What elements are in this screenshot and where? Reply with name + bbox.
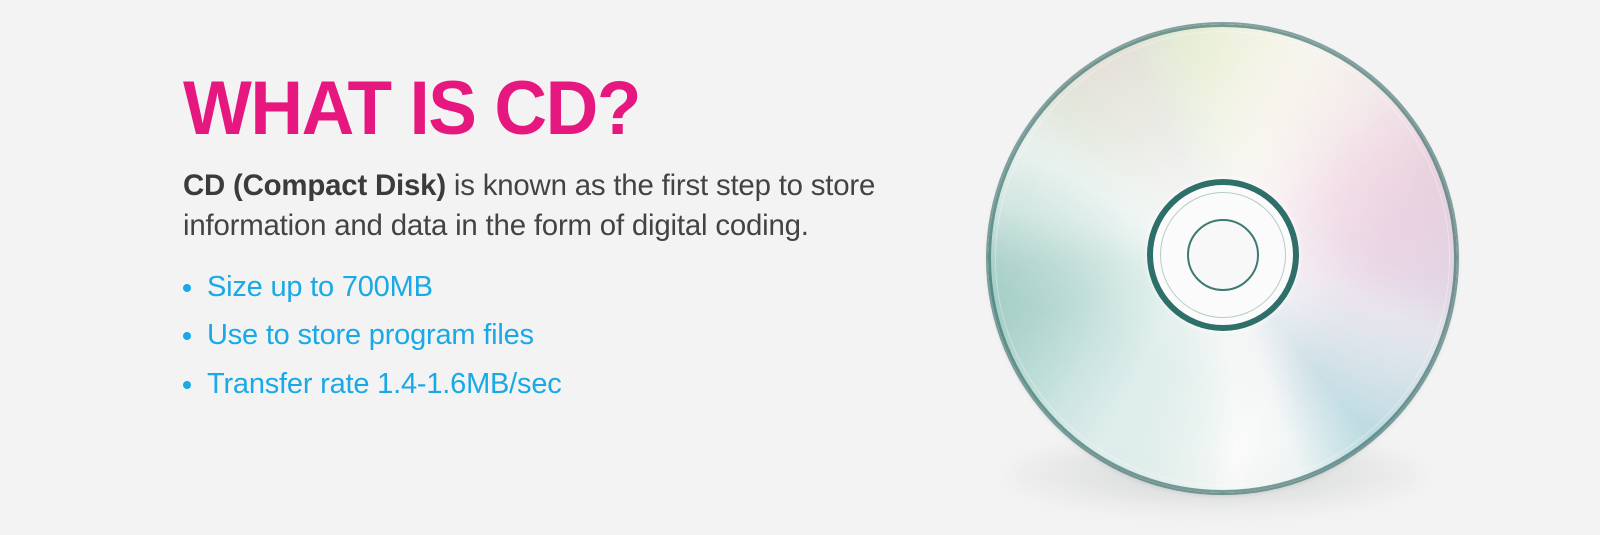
bullet-icon (183, 381, 191, 389)
description-term: CD (Compact Disk) (183, 169, 446, 202)
description-paragraph: CD (Compact Disk) is known as the first … (183, 144, 967, 246)
feature-label: Size up to 700MB (207, 271, 433, 303)
disc-hub (1147, 179, 1299, 331)
feature-label: Use to store program files (207, 319, 534, 351)
bullet-icon (183, 284, 191, 292)
compact-disc-icon (988, 24, 1457, 493)
disc-center-hole (1187, 219, 1259, 291)
list-item: Transfer rate 1.4-1.6MB/sec (183, 367, 983, 402)
bullet-icon (183, 332, 191, 340)
compact-disc-illustration (982, 18, 1462, 518)
list-item: Size up to 700MB (183, 270, 983, 305)
text-column: WHAT IS CD? CD (Compact Disk) is known a… (183, 74, 983, 416)
page-title: WHAT IS CD? (183, 74, 951, 144)
cd-infographic: WHAT IS CD? CD (Compact Disk) is known a… (0, 0, 1600, 535)
feature-list: Size up to 700MB Use to store program fi… (183, 246, 983, 402)
list-item: Use to store program files (183, 318, 983, 353)
feature-label: Transfer rate 1.4-1.6MB/sec (207, 368, 562, 400)
